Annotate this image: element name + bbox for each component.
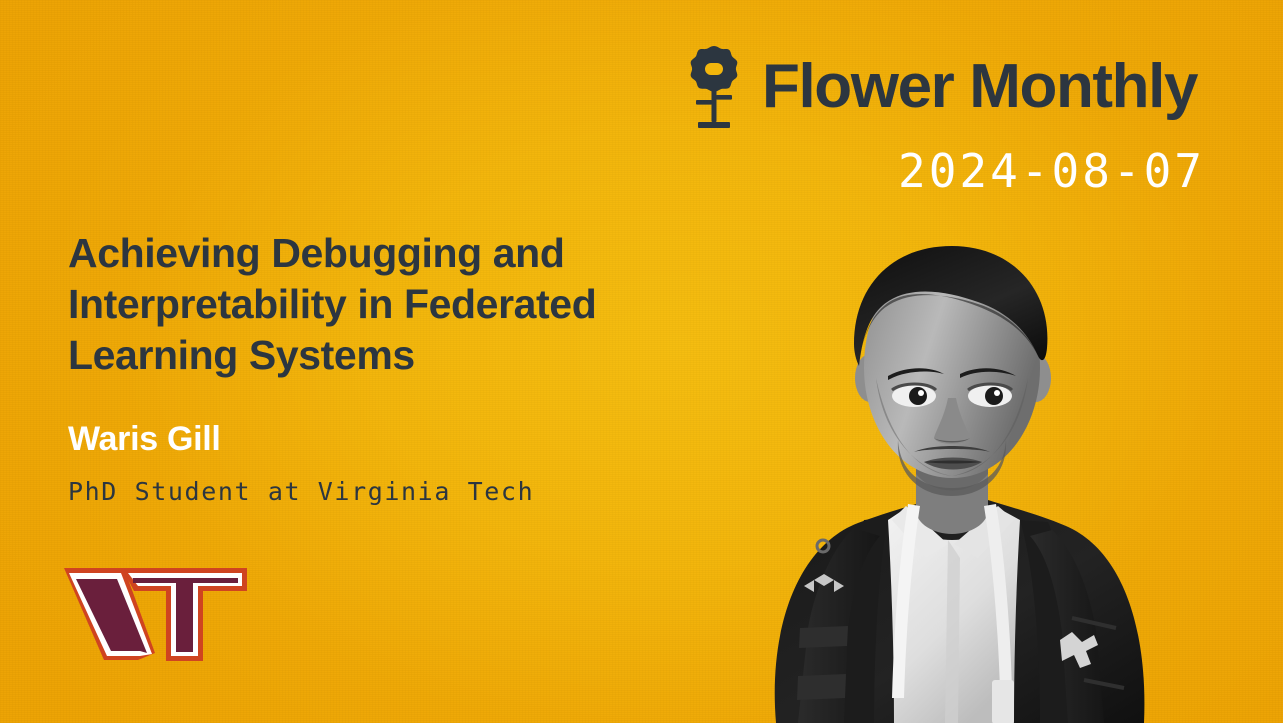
brand-title: Flower Monthly [762, 56, 1197, 118]
speaker-name: Waris Gill [68, 418, 221, 460]
speaker-photo [648, 228, 1208, 723]
flower-icon [686, 44, 742, 130]
virginia-tech-logo [60, 561, 250, 671]
talk-title: Achieving Debugging and Interpretability… [68, 228, 748, 381]
event-date: 2024-08-07 [898, 146, 1205, 196]
flower-monthly-slide: Flower Monthly 2024-08-07 Achieving Debu… [0, 0, 1283, 723]
speaker-affiliation: PhD Student at Virginia Tech [68, 476, 534, 508]
brand-header: Flower Monthly [686, 44, 1197, 130]
